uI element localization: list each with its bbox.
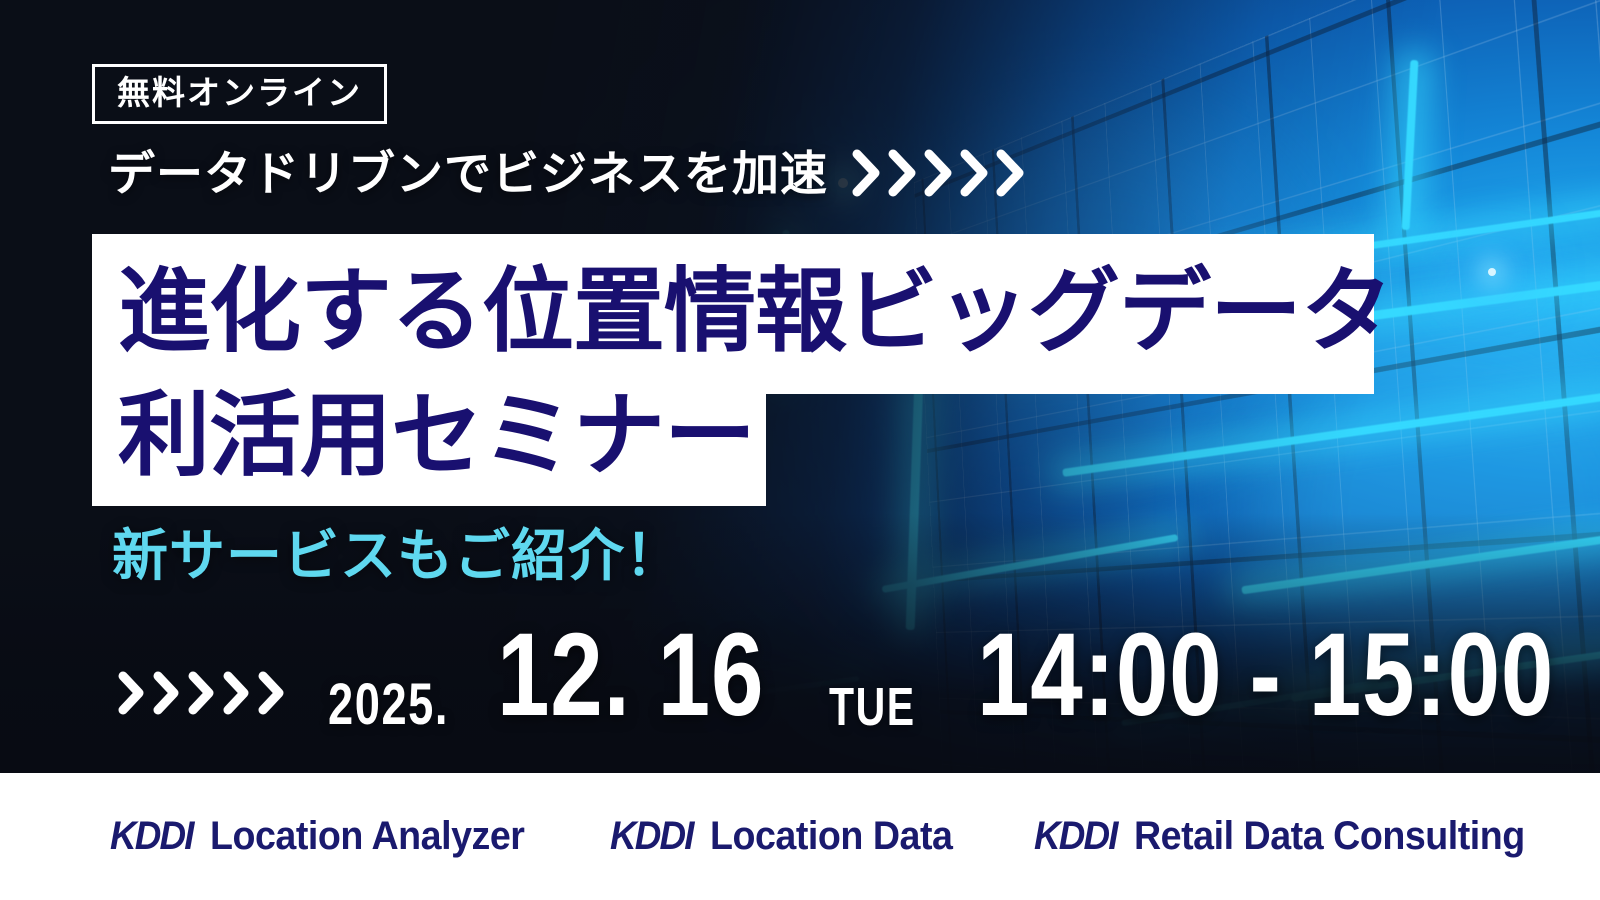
schedule-time: 14:00 - 15:00	[977, 616, 1554, 734]
seminar-title-line1: 進化する位置情報ビッグデータ	[118, 266, 1392, 358]
footer-logo-bar: KDDI Location Analyzer KDDI Location Dat…	[0, 773, 1600, 900]
chevron-right-icon	[256, 670, 288, 716]
chevron-right-icon	[958, 148, 992, 198]
schedule-row: 2025. 12. 16 TUE 14:00 - 15:00	[116, 616, 1600, 734]
banner-content: 無料オンライン データドリブンでビジネスを加速 進化する位置情報ビッグデータ 利…	[0, 0, 1600, 900]
logo-retail-data-consulting: KDDI Retail Data Consulting	[1034, 814, 1549, 859]
product-name: Location Data	[710, 814, 953, 859]
chevron-right-icon	[922, 148, 956, 198]
schedule-date: 12. 16	[497, 616, 764, 734]
chevron-right-icon	[221, 670, 253, 716]
chevron-right-icon	[994, 148, 1028, 198]
schedule-year: 2025.	[328, 676, 449, 734]
subtitle-text: データドリブンでビジネスを加速	[108, 150, 828, 197]
seminar-title-line2: 利活用セミナー	[118, 390, 755, 482]
chevron-right-icon	[850, 148, 884, 198]
tagline-text: 新サービスもご紹介！	[112, 528, 682, 584]
kddi-wordmark: KDDI	[110, 814, 193, 859]
free-online-badge: 無料オンライン	[92, 64, 387, 124]
product-name: Retail Data Consulting	[1134, 814, 1525, 859]
subtitle-row: データドリブンでビジネスを加速	[108, 148, 1028, 198]
product-name: Location Analyzer	[210, 814, 524, 859]
kddi-wordmark: KDDI	[610, 814, 693, 859]
chevron-right-icon	[116, 670, 148, 716]
seminar-banner: 無料オンライン データドリブンでビジネスを加速 進化する位置情報ビッグデータ 利…	[0, 0, 1600, 900]
schedule-day-of-week: TUE	[829, 680, 916, 734]
kddi-wordmark: KDDI	[1034, 814, 1117, 859]
chevron-right-icon	[186, 670, 218, 716]
subtitle-chevron-group	[850, 148, 1028, 198]
schedule-chevron-group	[116, 670, 288, 716]
logo-location-analyzer: KDDI Location Analyzer	[110, 814, 544, 859]
chevron-right-icon	[886, 148, 920, 198]
logo-location-data: KDDI Location Data	[610, 814, 968, 859]
chevron-right-icon	[151, 670, 183, 716]
